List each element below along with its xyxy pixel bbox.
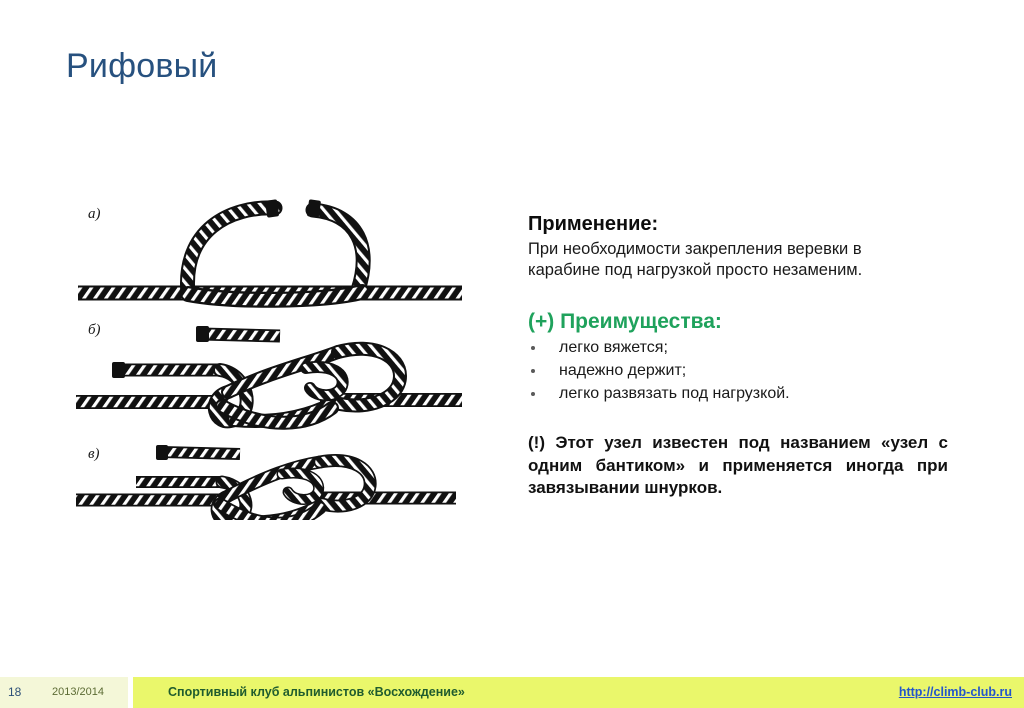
knot-panel-a: а) <box>78 199 462 300</box>
slide: Рифовый а) <box>0 0 1024 708</box>
application-text: При необходимости закрепления веревки в … <box>528 239 900 281</box>
panel-a-label: а) <box>88 206 101 222</box>
page-title: Рифовый <box>66 48 217 85</box>
knot-panel-b: б) <box>76 322 462 423</box>
application-heading: Применение: <box>528 212 948 236</box>
footer-page-number: 18 <box>8 685 21 699</box>
footer-club-name: Спортивный клуб альпинистов «Восхождение… <box>168 685 465 699</box>
content-column: Применение: При необходимости закреплени… <box>528 212 948 500</box>
knot-illustration: а) б) <box>70 190 470 520</box>
footer: 18 2013/2014 Спортивный клуб альпинистов… <box>0 677 1024 708</box>
panel-b-label: б) <box>88 322 101 338</box>
panel-v-label: в) <box>88 446 100 462</box>
advantages-heading: (+) Преимущества: <box>528 309 948 334</box>
list-item: надежно держит; <box>528 360 948 383</box>
list-item: легко развязать под нагрузкой. <box>528 383 948 406</box>
knot-panel-v: в) <box>76 445 456 520</box>
footer-year: 2013/2014 <box>52 686 104 698</box>
advantages-list: легко вяжется; надежно держит; легко раз… <box>528 337 948 405</box>
footer-website-link[interactable]: http://climb-club.ru <box>899 685 1012 699</box>
note-text: (!) Этот узел известен под названием «уз… <box>528 432 948 501</box>
list-item: легко вяжется; <box>528 337 948 360</box>
